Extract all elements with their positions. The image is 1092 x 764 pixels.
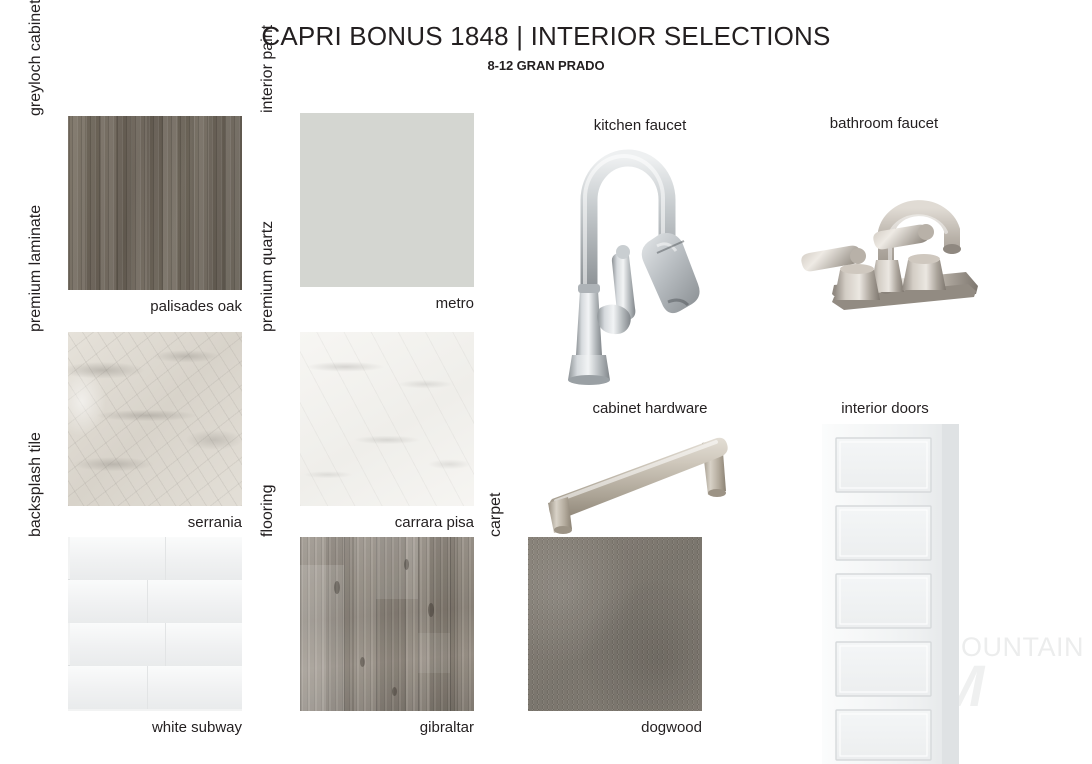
swatch-category-label: premium quartz (260, 157, 276, 332)
product-heading-bathroom-faucet: bathroom faucet (784, 115, 984, 132)
product-heading-kitchen-faucet: kitchen faucet (540, 117, 740, 134)
swatch-image-premium-laminate (68, 332, 242, 506)
swatch-selection-label: gibraltar (276, 719, 474, 736)
page-title: CAPRI BONUS 1848 | INTERIOR SELECTIONS (0, 22, 1092, 52)
swatch-image-greyloch-cabinet (68, 116, 242, 290)
swatch-image-premium-quartz (300, 332, 474, 506)
page-subtitle: 8-12 GRAN PRADO (0, 58, 1092, 73)
product-image-kitchen-faucet (556, 140, 731, 390)
product-heading-cabinet-hardware: cabinet hardware (520, 400, 780, 417)
swatch-category-label: interior paint (260, 0, 276, 113)
swatch-selection-label: carrara pisa (276, 514, 474, 531)
swatch-category-label: premium laminate (28, 157, 44, 332)
product-image-bathroom-faucet (800, 160, 1000, 320)
swatch-image-backsplash-tile (68, 537, 242, 711)
product-image-cabinet-hardware (536, 425, 746, 535)
swatch-category-label: flooring (260, 362, 276, 537)
swatch-category-label: backsplash tile (28, 362, 44, 537)
swatch-category-label: carpet (488, 362, 504, 537)
board-header: CAPRI BONUS 1848 | INTERIOR SELECTIONS 8… (0, 22, 1092, 73)
swatch-image-flooring (300, 537, 474, 711)
swatch-image-carpet (528, 537, 702, 711)
swatch-selection-label: serrania (44, 514, 242, 531)
swatch-selection-label: dogwood (504, 719, 702, 736)
swatch-category-label: greyloch cabinet (28, 0, 44, 116)
product-heading-interior-doors: interior doors (800, 400, 970, 417)
swatch-selection-label: metro (276, 295, 474, 312)
swatch-image-interior-paint (300, 113, 474, 287)
product-image-interior-doors (822, 424, 959, 764)
swatch-selection-label: white subway (44, 719, 242, 736)
swatch-selection-label: palisades oak (44, 298, 242, 315)
